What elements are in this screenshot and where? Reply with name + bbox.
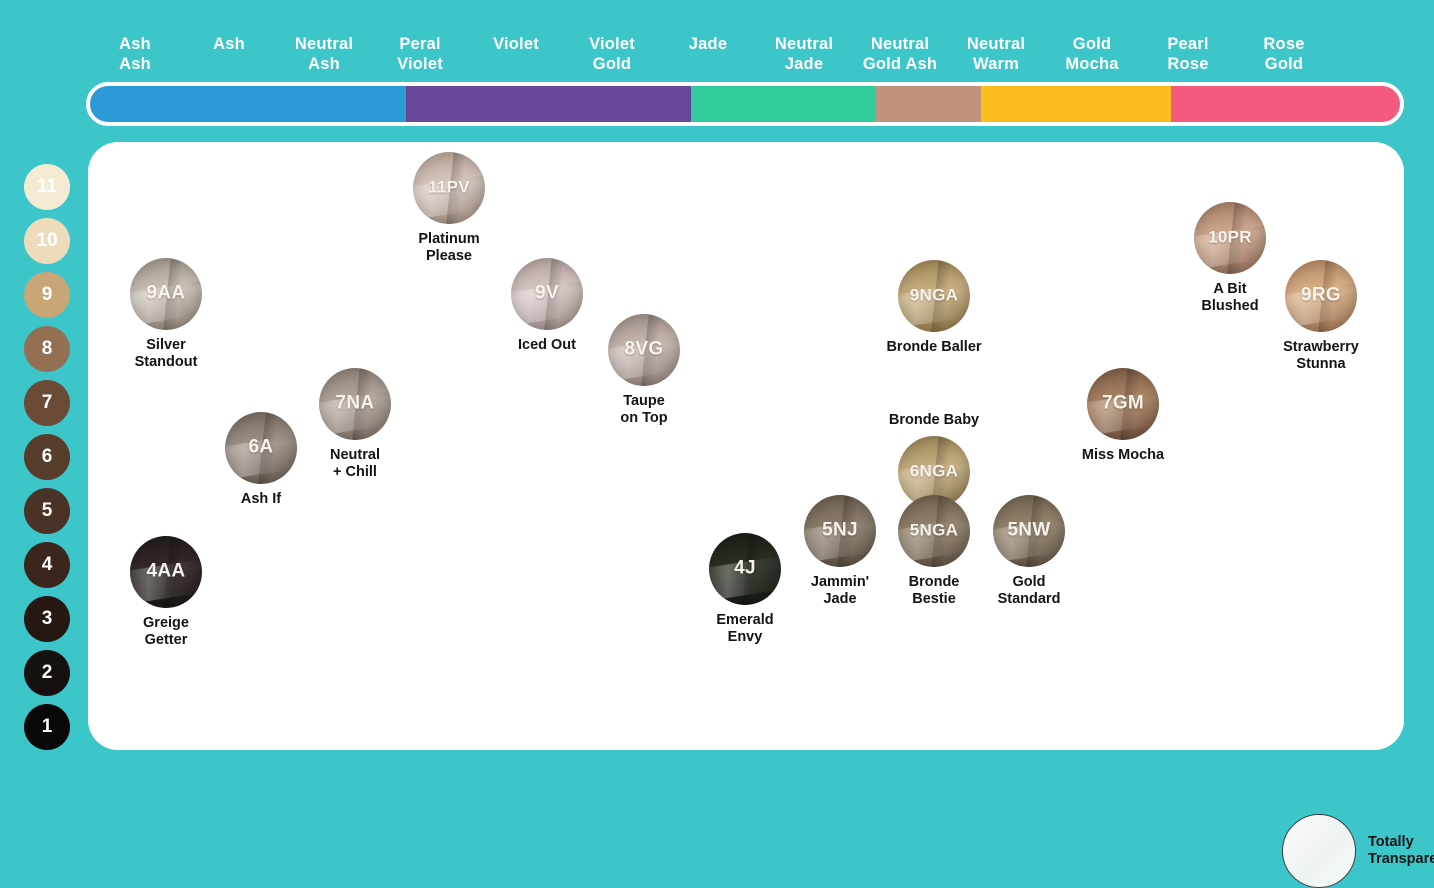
shade-swatch-4AA[interactable]: 4AAGreige Getter bbox=[130, 536, 202, 649]
shade-swatch-5NW[interactable]: 5NWGold Standard bbox=[993, 495, 1065, 608]
shade-name: Iced Out bbox=[472, 337, 622, 354]
shade-name: Miss Mocha bbox=[1048, 447, 1198, 464]
shade-swatch-9AA[interactable]: 9AASilver Standout bbox=[130, 258, 202, 371]
shade-circle: 9NGA bbox=[898, 260, 970, 332]
shade-code: 5NW bbox=[993, 520, 1065, 542]
shade-code: 7NA bbox=[319, 393, 391, 415]
tone-bar-segment-neutral-tan bbox=[876, 86, 981, 122]
shade-swatch-7GM[interactable]: 7GMMiss Mocha bbox=[1087, 368, 1159, 464]
shade-circle: 11PV bbox=[413, 152, 485, 224]
level-dot-7: 7 bbox=[24, 380, 70, 426]
tone-bar-segment-jade-green bbox=[691, 86, 877, 122]
shade-name: A Bit Blushed bbox=[1155, 281, 1305, 315]
tone-family-label: Violet bbox=[468, 18, 564, 54]
shade-circle: 5NW bbox=[993, 495, 1065, 567]
shade-name: Platinum Please bbox=[374, 231, 524, 265]
shade-code: 4AA bbox=[130, 561, 202, 583]
level-dot-1: 1 bbox=[24, 704, 70, 750]
shade-circle: 6A bbox=[225, 412, 297, 484]
clear-swatch-circle bbox=[1282, 814, 1356, 888]
shade-chart-panel: 11PVPlatinum Please9AASilver Standout9VI… bbox=[88, 142, 1404, 750]
level-dot-4: 4 bbox=[24, 542, 70, 588]
tone-bar-segment-rose-pink bbox=[1171, 86, 1400, 122]
shade-code: 5NJ bbox=[804, 520, 876, 542]
shade-circle: 8VG bbox=[608, 314, 680, 386]
tone-family-label: Ash Ash bbox=[88, 18, 182, 74]
shade-name: Ash If bbox=[186, 491, 336, 508]
totally-transparent-entry[interactable]: Totally Transparent bbox=[1282, 814, 1434, 888]
shade-code: 8VG bbox=[608, 339, 680, 361]
shade-name: Taupe on Top bbox=[569, 393, 719, 427]
tone-family-label: Gold Mocha bbox=[1044, 18, 1140, 74]
tone-bar-segment-gold bbox=[981, 86, 1171, 122]
level-dot-3: 3 bbox=[24, 596, 70, 642]
clear-swatch-label: Totally Transparent bbox=[1368, 834, 1434, 868]
tone-family-header: Ash AshAshNeutral AshPeral VioletVioletV… bbox=[88, 18, 1402, 80]
shade-name: Bronde Baby bbox=[859, 412, 1009, 429]
shade-name: Emerald Envy bbox=[670, 612, 820, 646]
tone-family-label: Neutral Warm bbox=[948, 18, 1044, 74]
shade-swatch-9NGA[interactable]: 9NGABronde Baller bbox=[898, 260, 970, 356]
level-dot-9: 9 bbox=[24, 272, 70, 318]
shade-code: 9RG bbox=[1285, 285, 1357, 307]
shade-code: 5NGA bbox=[898, 521, 970, 541]
level-dot-6: 6 bbox=[24, 434, 70, 480]
shade-code: 9V bbox=[511, 283, 583, 305]
shade-code: 9NGA bbox=[898, 286, 970, 306]
shade-swatch-8VG[interactable]: 8VGTaupe on Top bbox=[608, 314, 680, 427]
shade-code: 9AA bbox=[130, 283, 202, 305]
shade-swatch-7NA[interactable]: 7NANeutral + Chill bbox=[319, 368, 391, 481]
shade-circle: 4AA bbox=[130, 536, 202, 608]
shade-swatch-6A[interactable]: 6AAsh If bbox=[225, 412, 297, 508]
level-dot-5: 5 bbox=[24, 488, 70, 534]
shade-circle: 7NA bbox=[319, 368, 391, 440]
tone-family-label: Neutral Gold Ash bbox=[852, 18, 948, 74]
shade-name: Silver Standout bbox=[91, 337, 241, 371]
level-dot-8: 8 bbox=[24, 326, 70, 372]
tone-family-label: Jade bbox=[660, 18, 756, 54]
shade-circle: 5NGA bbox=[898, 495, 970, 567]
shade-name: Greige Getter bbox=[91, 615, 241, 649]
shade-name: Strawberry Stunna bbox=[1246, 339, 1396, 373]
tone-bar-segment-ash-blue bbox=[90, 86, 406, 122]
shade-swatch-9RG[interactable]: 9RGStrawberry Stunna bbox=[1285, 260, 1357, 373]
shade-name: Gold Standard bbox=[954, 574, 1104, 608]
level-dot-2: 2 bbox=[24, 650, 70, 696]
level-scale-column: 1110987654321 bbox=[24, 164, 70, 758]
shade-circle: 9RG bbox=[1285, 260, 1357, 332]
shade-name: Bronde Baller bbox=[859, 339, 1009, 356]
shade-code: 6A bbox=[225, 437, 297, 459]
shade-circle: 10PR bbox=[1194, 202, 1266, 274]
tone-family-label: Violet Gold bbox=[564, 18, 660, 74]
shade-code: 7GM bbox=[1087, 393, 1159, 415]
shade-swatch-10PR[interactable]: 10PRA Bit Blushed bbox=[1194, 202, 1266, 315]
tone-family-label: Ash bbox=[182, 18, 276, 54]
shade-swatch-11PV[interactable]: 11PVPlatinum Please bbox=[413, 152, 485, 265]
shade-name: Neutral + Chill bbox=[280, 447, 430, 481]
shade-code: 11PV bbox=[413, 178, 485, 198]
shade-circle: 5NJ bbox=[804, 495, 876, 567]
level-dot-11: 11 bbox=[24, 164, 70, 210]
tone-bar-segment-violet bbox=[406, 86, 691, 122]
shade-swatch-9V[interactable]: 9VIced Out bbox=[511, 258, 583, 354]
shade-code: 4J bbox=[709, 558, 781, 580]
tone-family-label: Neutral Jade bbox=[756, 18, 852, 74]
level-dot-10: 10 bbox=[24, 218, 70, 264]
shade-circle: 9AA bbox=[130, 258, 202, 330]
shade-swatch-6NGA[interactable]: Bronde Baby6NGA bbox=[898, 412, 970, 508]
shade-circle: 7GM bbox=[1087, 368, 1159, 440]
shade-code: 10PR bbox=[1194, 228, 1266, 248]
tone-family-label: Peral Violet bbox=[372, 18, 468, 74]
shade-circle: 9V bbox=[511, 258, 583, 330]
tone-family-label: Rose Gold bbox=[1236, 18, 1332, 74]
tone-family-label: Neutral Ash bbox=[276, 18, 372, 74]
tone-color-bar bbox=[86, 82, 1404, 126]
shade-code: 6NGA bbox=[898, 462, 970, 482]
tone-family-label: Pearl Rose bbox=[1140, 18, 1236, 74]
